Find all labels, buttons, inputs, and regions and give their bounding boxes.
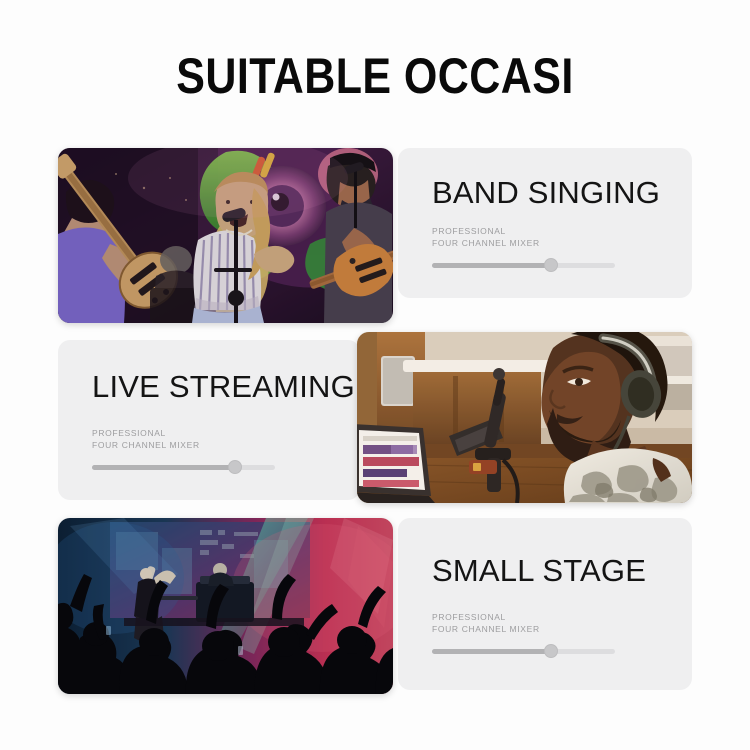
card-heading: BAND SINGING <box>432 176 660 210</box>
slider-fill <box>92 465 235 470</box>
card-subtitle-block: PROFESSIONAL FOUR CHANNEL MIXER <box>92 428 278 474</box>
occasion-card-band-singing: BAND SINGING PROFESSIONAL FOUR CHANNEL M… <box>58 148 692 318</box>
slider-knob[interactable] <box>544 258 558 272</box>
card-panel-body: BAND SINGING PROFESSIONAL FOUR CHANNEL M… <box>432 148 668 298</box>
card-heading: LIVE STREAMING <box>92 370 355 404</box>
poster-page: SUITABLE OCCASI BAND SINGING PROFESSIONA… <box>0 0 750 750</box>
card-subtitle-block: PROFESSIONAL FOUR CHANNEL MIXER <box>432 612 618 658</box>
card-subtitle-line-2: FOUR CHANNEL MIXER <box>432 624 618 636</box>
band-singing-photo <box>58 148 393 323</box>
card-panel: SMALL STAGE PROFESSIONAL FOUR CHANNEL MI… <box>398 518 692 690</box>
live-streaming-photo <box>357 332 692 503</box>
card-panel-body: LIVE STREAMING PROFESSIONAL FOUR CHANNEL… <box>92 340 336 500</box>
volume-slider[interactable] <box>92 460 275 474</box>
volume-slider[interactable] <box>432 258 615 272</box>
card-panel: LIVE STREAMING PROFESSIONAL FOUR CHANNEL… <box>58 340 360 500</box>
card-panel: BAND SINGING PROFESSIONAL FOUR CHANNEL M… <box>398 148 692 298</box>
page-title: SUITABLE OCCASI <box>53 48 698 104</box>
card-subtitle-block: PROFESSIONAL FOUR CHANNEL MIXER <box>432 226 618 272</box>
card-subtitle-line-2: FOUR CHANNEL MIXER <box>92 440 278 452</box>
occasion-card-live-streaming: LIVE STREAMING PROFESSIONAL FOUR CHANNEL… <box>58 332 692 503</box>
slider-fill <box>432 649 551 654</box>
small-stage-illustration <box>58 518 393 694</box>
card-subtitle-line-2: FOUR CHANNEL MIXER <box>432 238 618 250</box>
slider-knob[interactable] <box>544 644 558 658</box>
card-panel-body: SMALL STAGE PROFESSIONAL FOUR CHANNEL MI… <box>432 518 668 690</box>
volume-slider[interactable] <box>432 644 615 658</box>
slider-fill <box>432 263 551 268</box>
band-singing-illustration <box>58 148 393 323</box>
occasion-card-small-stage: SMALL STAGE PROFESSIONAL FOUR CHANNEL MI… <box>58 518 692 694</box>
card-subtitle-line-1: PROFESSIONAL <box>432 612 618 624</box>
live-streaming-illustration <box>357 332 692 503</box>
card-subtitle-line-1: PROFESSIONAL <box>432 226 618 238</box>
card-heading: SMALL STAGE <box>432 554 646 588</box>
card-subtitle-line-1: PROFESSIONAL <box>92 428 278 440</box>
small-stage-photo <box>58 518 393 694</box>
slider-knob[interactable] <box>228 460 242 474</box>
